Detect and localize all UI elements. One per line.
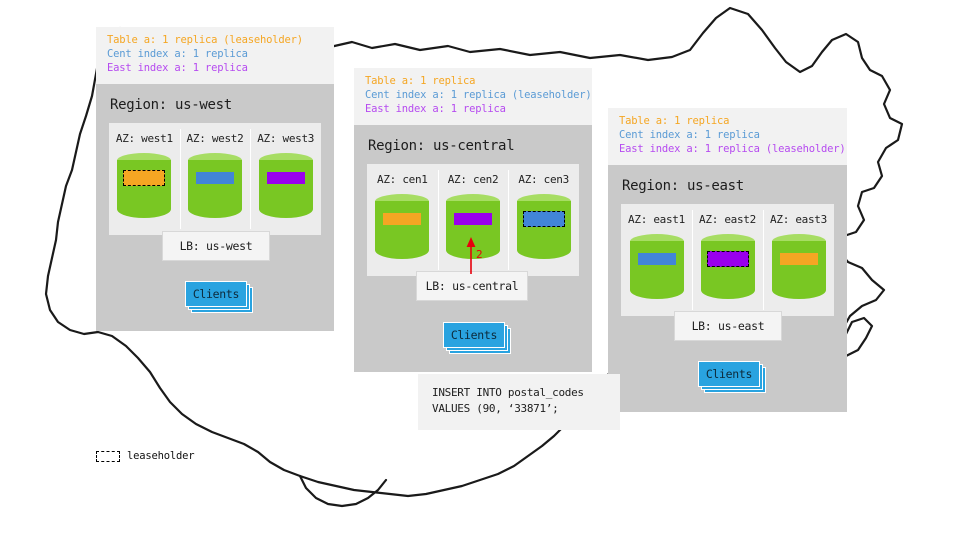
database-cylinder-icon[interactable] bbox=[772, 234, 826, 302]
database-cylinder-icon[interactable] bbox=[375, 194, 429, 262]
az-cell-cen1[interactable]: AZ: cen1 bbox=[367, 164, 438, 276]
replica-chip-east-index-a-leaseholder bbox=[707, 251, 749, 267]
az-cell-west3[interactable]: AZ: west3 bbox=[250, 123, 321, 235]
legend-label: leaseholder bbox=[127, 450, 194, 462]
database-cylinder-icon[interactable] bbox=[701, 234, 755, 302]
cylinder-body bbox=[188, 160, 242, 218]
clients-stack-us-east[interactable]: Clients bbox=[698, 361, 760, 387]
database-cylinder-icon[interactable] bbox=[630, 234, 684, 302]
cylinder-body bbox=[375, 201, 429, 259]
az-strip-us-west: AZ: west1 AZ: west2 AZ: west3 bbox=[109, 123, 321, 235]
replica-summary-us-west: Table a: 1 replica (leaseholder) Cent in… bbox=[96, 27, 334, 84]
az-label: AZ: west2 bbox=[180, 132, 251, 145]
az-label: AZ: west1 bbox=[109, 132, 180, 145]
cylinder-body bbox=[701, 241, 755, 299]
diagram-canvas: Table a: 1 replica (leaseholder) Cent in… bbox=[0, 0, 960, 540]
load-balancer-us-east[interactable]: LB: us-east bbox=[674, 311, 782, 341]
region-title-us-central: Region: us-central bbox=[354, 125, 592, 164]
clients-stack-us-west[interactable]: Clients bbox=[185, 281, 247, 307]
az-label: AZ: west3 bbox=[250, 132, 321, 145]
replica-line-table: Table a: 1 replica bbox=[619, 115, 836, 129]
database-cylinder-icon[interactable] bbox=[259, 153, 313, 221]
az-label: AZ: east1 bbox=[621, 213, 692, 226]
clients-button[interactable]: Clients bbox=[698, 361, 760, 387]
replica-line-table: Table a: 1 replica bbox=[365, 75, 581, 89]
replica-line-east: East index a: 1 replica bbox=[107, 62, 323, 76]
legend: leaseholder bbox=[96, 450, 194, 462]
az-label: AZ: cen2 bbox=[438, 173, 509, 186]
az-cell-east2[interactable]: AZ: east2 bbox=[692, 204, 763, 316]
replica-line-east: East index a: 1 replica (leaseholder) bbox=[619, 143, 836, 157]
az-strip-us-east: AZ: east1 AZ: east2 AZ: east3 bbox=[621, 204, 834, 316]
replica-chip-east-index-a bbox=[454, 213, 492, 225]
az-label: AZ: east2 bbox=[692, 213, 763, 226]
cylinder-body bbox=[772, 241, 826, 299]
clients-button[interactable]: Clients bbox=[443, 322, 505, 348]
replica-chip-table-a bbox=[383, 213, 421, 225]
replica-chip-cent-index-a bbox=[638, 253, 676, 265]
replica-line-cent: Cent index a: 1 replica bbox=[619, 129, 836, 143]
load-balancer-us-west[interactable]: LB: us-west bbox=[162, 231, 270, 261]
database-cylinder-icon[interactable] bbox=[188, 153, 242, 221]
replica-chip-table-a bbox=[780, 253, 818, 265]
replica-chip-east-index-a bbox=[267, 172, 305, 184]
replica-line-east: East index a: 1 replica bbox=[365, 103, 581, 117]
replica-line-cent: Cent index a: 1 replica bbox=[107, 48, 323, 62]
region-title-us-west: Region: us-west bbox=[96, 84, 334, 123]
database-cylinder-icon[interactable] bbox=[117, 153, 171, 221]
cylinder-body bbox=[630, 241, 684, 299]
replica-line-table: Table a: 1 replica (leaseholder) bbox=[107, 34, 323, 48]
az-cell-cen3[interactable]: AZ: cen3 bbox=[508, 164, 579, 276]
sql-statement-note: INSERT INTO postal_codes VALUES (90, ‘33… bbox=[418, 374, 620, 430]
cylinder-body bbox=[259, 160, 313, 218]
replica-summary-us-east: Table a: 1 replica Cent index a: 1 repli… bbox=[608, 108, 847, 165]
az-cell-east3[interactable]: AZ: east3 bbox=[763, 204, 834, 316]
arrow-label-2: 2 bbox=[476, 248, 483, 261]
az-label: AZ: cen3 bbox=[508, 173, 579, 186]
region-title-us-east: Region: us-east bbox=[608, 165, 847, 204]
database-cylinder-icon[interactable] bbox=[517, 194, 571, 262]
cylinder-body bbox=[517, 201, 571, 259]
az-cell-west2[interactable]: AZ: west2 bbox=[180, 123, 251, 235]
az-cell-east1[interactable]: AZ: east1 bbox=[621, 204, 692, 316]
az-cell-west1[interactable]: AZ: west1 bbox=[109, 123, 180, 235]
clients-button[interactable]: Clients bbox=[185, 281, 247, 307]
replica-chip-table-a-leaseholder bbox=[123, 170, 165, 186]
clients-stack-us-central[interactable]: Clients bbox=[443, 322, 505, 348]
az-label: AZ: cen1 bbox=[367, 173, 438, 186]
replica-chip-cent-index-a-leaseholder bbox=[523, 211, 565, 227]
replica-summary-us-central: Table a: 1 replica Cent index a: 1 repli… bbox=[354, 68, 592, 125]
replica-chip-cent-index-a bbox=[196, 172, 234, 184]
az-label: AZ: east3 bbox=[763, 213, 834, 226]
cylinder-body bbox=[117, 160, 171, 218]
dashed-rect-icon bbox=[96, 451, 120, 462]
replica-line-cent: Cent index a: 1 replica (leaseholder) bbox=[365, 89, 581, 103]
